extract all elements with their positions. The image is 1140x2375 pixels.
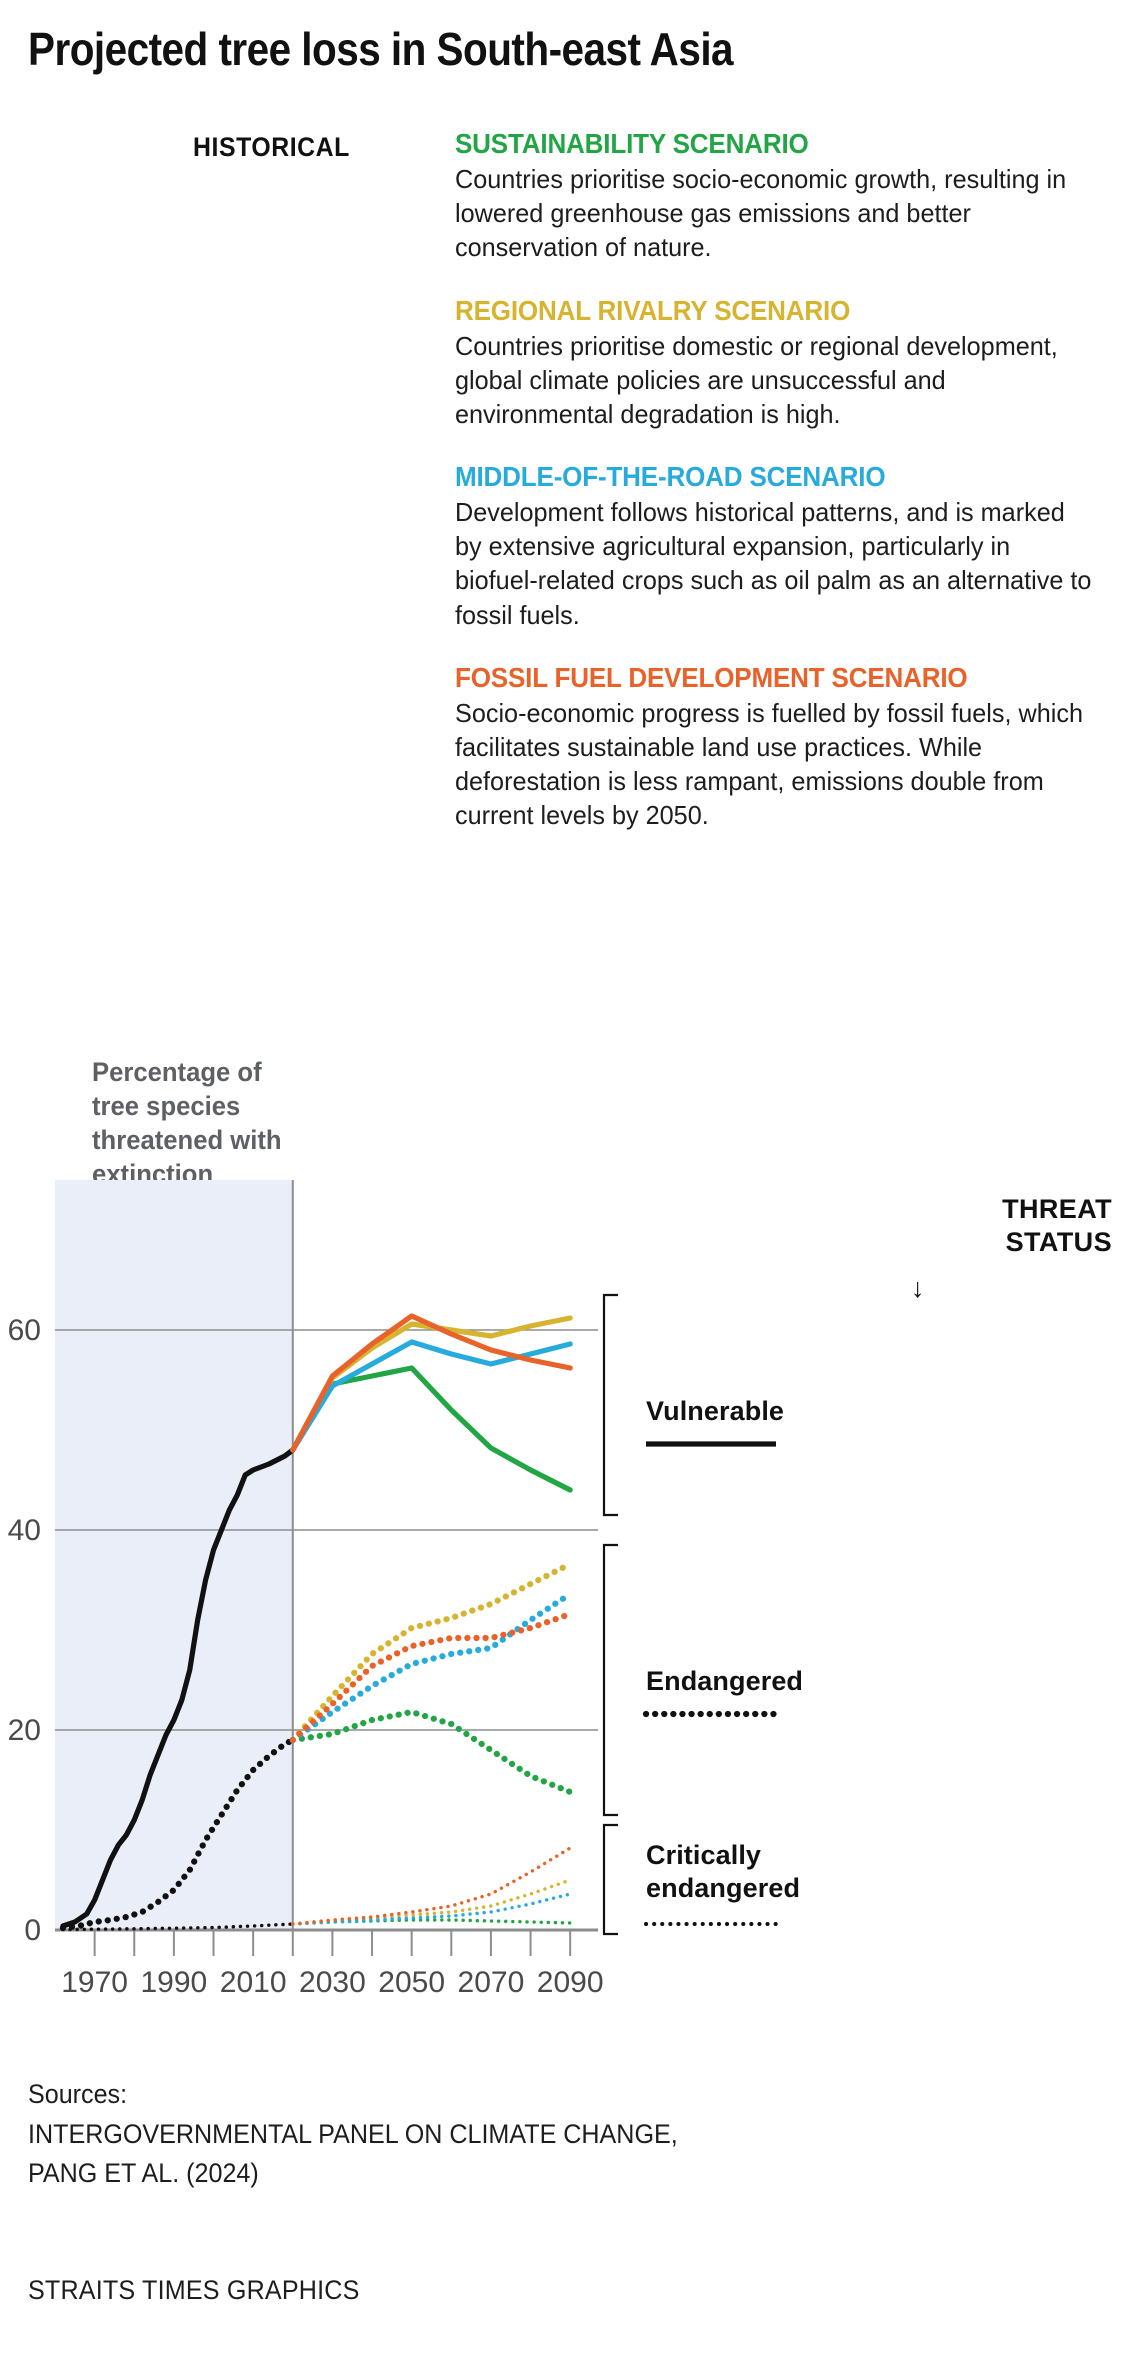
chart-series-line [293,1880,570,1924]
legend-label-critically-endangered-line-1: Critically [646,1840,761,1870]
legend-label-critically-endangered-line-2: endangered [646,1873,800,1903]
y-axis-tick-label: 40 [8,1514,41,1547]
x-axis-tick-label: 2030 [299,1966,366,1999]
sources-label: Sources: [28,2075,678,2115]
scenario-heading: SUSTAINABILITY SCENARIO [455,128,1069,159]
line-chart: 02040601970199020102030205020702090THREA… [0,1150,1140,2040]
legend-label-endangered: Endangered [646,1666,803,1696]
legend-bracket [604,1295,618,1515]
scenario-item-sustainability: SUSTAINABILITY SCENARIO Countries priori… [455,128,1115,265]
historical-band-label: HISTORICAL [193,132,350,163]
y-axis-tick-label: 0 [24,1914,41,1947]
scenario-legend-column: SUSTAINABILITY SCENARIO Countries priori… [455,128,1115,862]
x-axis-tick-label: 2010 [220,1966,287,1999]
x-axis-tick-label: 2090 [537,1966,604,1999]
legend-bracket [604,1825,618,1934]
scenario-description: Countries prioritise domestic or regiona… [455,329,1095,431]
x-axis-tick-label: 1990 [141,1966,208,1999]
scenario-description: Countries prioritise socio-economic grow… [455,162,1095,264]
down-arrow-icon: ↓ [911,1273,925,1303]
threat-status-heading-line-1: THREAT [1002,1194,1112,1224]
historical-band [55,1180,293,1930]
x-axis-tick-label: 2050 [378,1966,445,1999]
chart-series-line [293,1614,570,1740]
scenario-heading: MIDDLE-OF-THE-ROAD SCENARIO [455,461,1069,492]
legend-label-vulnerable: Vulnerable [646,1396,784,1426]
scenario-item-regional-rivalry: REGIONAL RIVALRY SCENARIO Countries prio… [455,295,1115,432]
scenario-description: Socio-economic progress is fuelled by fo… [455,696,1095,832]
y-axis-tick-label: 60 [8,1314,41,1347]
infographic-page: Projected tree loss in South-east Asia H… [0,0,1140,2375]
scenario-item-fossil-fuel-development: FOSSIL FUEL DEVELOPMENT SCENARIO Socio-e… [455,662,1115,833]
scenario-description: Development follows historical patterns,… [455,495,1095,631]
threat-status-heading-line-2: STATUS [1006,1227,1112,1257]
x-axis-tick-label: 1970 [61,1966,128,1999]
sources-line-1: INTERGOVERNMENTAL PANEL ON CLIMATE CHANG… [28,2115,678,2155]
sources-block: Sources: INTERGOVERNMENTAL PANEL ON CLIM… [28,2075,678,2194]
y-axis-tick-label: 20 [8,1714,41,1747]
graphics-credit: STRAITS TIMES GRAPHICS [28,2275,360,2306]
scenario-heading: REGIONAL RIVALRY SCENARIO [455,295,1069,326]
chart-series-line [293,1848,570,1924]
chart-series-line [293,1712,570,1792]
scenario-heading: FOSSIL FUEL DEVELOPMENT SCENARIO [455,662,1069,693]
chart-svg: 02040601970199020102030205020702090THREA… [0,1150,1140,2040]
legend-bracket [604,1545,618,1815]
scenario-item-middle-of-the-road: MIDDLE-OF-THE-ROAD SCENARIO Development … [455,461,1115,632]
chart-series-line [293,1564,570,1740]
x-axis-tick-label: 2070 [458,1966,525,1999]
sources-line-2: PANG ET AL. (2024) [28,2154,678,2194]
page-title: Projected tree loss in South-east Asia [28,22,733,76]
